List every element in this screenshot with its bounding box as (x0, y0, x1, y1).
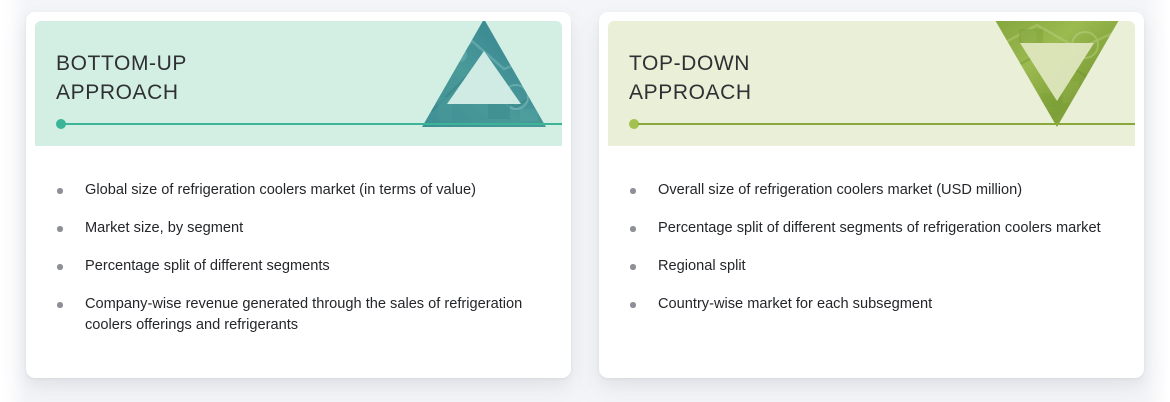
bullet-dot-icon (57, 264, 63, 270)
list-item-label: Company-wise revenue generated through t… (85, 296, 522, 333)
triangle-up-icon (420, 21, 548, 130)
accent-rule-top-down (629, 118, 1135, 130)
card-bottom-up: BOTTOM-UP APPROACH (26, 12, 571, 378)
list-item: Company-wise revenue generated through t… (55, 294, 541, 336)
list-item: Country-wise market for each subsegment (628, 294, 1114, 315)
bullet-list-top-down: Overall size of refrigeration coolers ma… (599, 146, 1144, 315)
cards-container: BOTTOM-UP APPROACH (0, 0, 1170, 402)
list-item: Percentage split of different segments o… (628, 218, 1114, 239)
list-item: Market size, by segment (55, 218, 541, 239)
accent-rule-bottom-up (56, 118, 562, 130)
list-item: Regional split (628, 256, 1114, 277)
bullet-dot-icon (630, 264, 636, 270)
bullet-dot-icon (630, 188, 636, 194)
card-title-top-down: TOP-DOWN APPROACH (629, 49, 752, 107)
list-item-label: Percentage split of different segments (85, 258, 330, 274)
list-item: Percentage split of different segments (55, 256, 541, 277)
triangle-down-icon (993, 21, 1121, 130)
list-item-label: Market size, by segment (85, 220, 243, 236)
bullet-dot-icon (630, 226, 636, 232)
card-top-down: TOP-DOWN APPROACH (599, 12, 1144, 378)
list-item-label: Percentage split of different segments o… (658, 220, 1101, 236)
accent-line (65, 123, 562, 125)
card-title-bottom-up: BOTTOM-UP APPROACH (56, 49, 187, 107)
bullet-dot-icon (57, 226, 63, 232)
bullet-dot-icon (630, 302, 636, 308)
card-header-band-top-down: TOP-DOWN APPROACH (608, 21, 1135, 146)
bullet-list-bottom-up: Global size of refrigeration coolers mar… (26, 146, 571, 336)
bullet-dot-icon (57, 302, 63, 308)
list-item-label: Country-wise market for each subsegment (658, 296, 932, 312)
list-item-label: Global size of refrigeration coolers mar… (85, 182, 476, 198)
list-item: Global size of refrigeration coolers mar… (55, 180, 541, 201)
list-item: Overall size of refrigeration coolers ma… (628, 180, 1114, 201)
approach-comparison-graphic: BOTTOM-UP APPROACH (0, 0, 1170, 402)
list-item-label: Overall size of refrigeration coolers ma… (658, 182, 1022, 198)
list-item-label: Regional split (658, 258, 746, 274)
accent-line (638, 123, 1135, 125)
bullet-dot-icon (57, 188, 63, 194)
card-header-band-bottom-up: BOTTOM-UP APPROACH (35, 21, 562, 146)
